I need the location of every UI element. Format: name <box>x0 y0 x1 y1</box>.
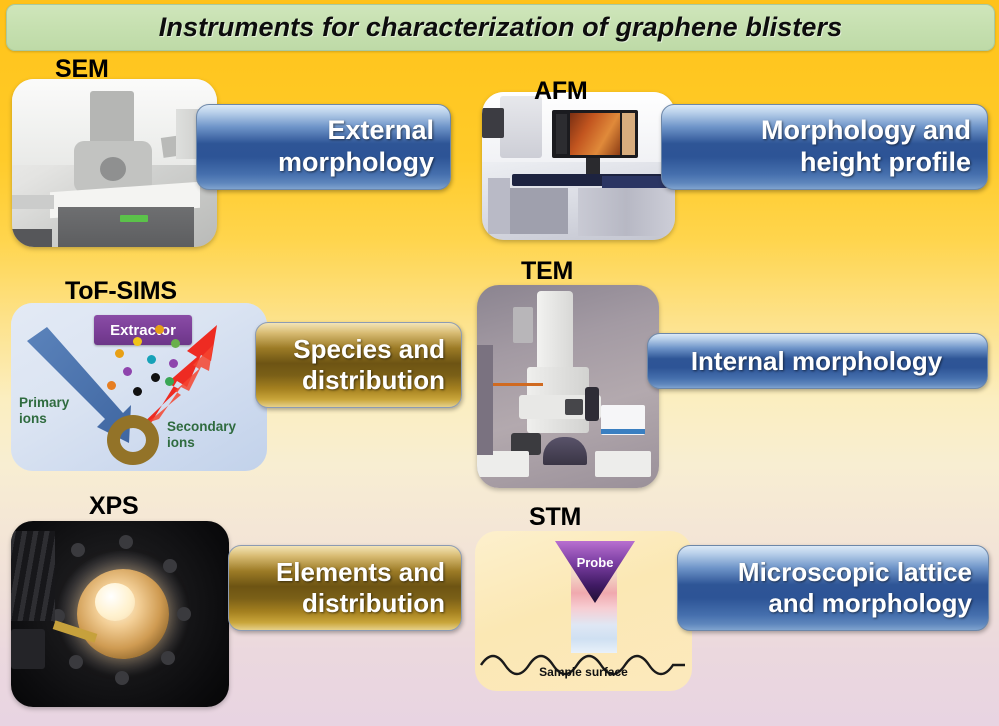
caption-pill-afm: Morphology and height profile <box>661 104 988 190</box>
instrument-label-stm: STM <box>529 503 581 532</box>
figure-root: Instruments for characterization of grap… <box>0 0 999 726</box>
caption-text-stm: Microscopic lattice and morphology <box>678 557 988 618</box>
sample-ring-icon <box>107 415 159 465</box>
caption-text-tem: Internal morphology <box>648 346 987 377</box>
instrument-label-tof-sims: ToF-SIMS <box>65 277 177 306</box>
instrument-label-xps: XPS <box>89 492 138 521</box>
particle-dot <box>133 337 142 346</box>
caption-text-sem: External morphology <box>197 115 450 179</box>
particle-dot <box>115 349 124 358</box>
particle-dot <box>123 367 132 376</box>
sample-surface-label: Sample surface <box>475 665 692 679</box>
secondary-ions-label: Secondary ions <box>167 419 236 452</box>
caption-pill-sem: External morphology <box>196 104 451 190</box>
instrument-photo-xps <box>11 521 229 707</box>
instrument-photo-afm <box>482 92 675 240</box>
instrument-label-afm: AFM <box>534 77 588 106</box>
caption-pill-tof-sims: Species and distribution <box>255 322 462 408</box>
instrument-label-sem: SEM <box>55 55 109 84</box>
particle-dot <box>151 373 160 382</box>
particle-dot <box>171 339 180 348</box>
particle-dot <box>107 381 116 390</box>
figure-title-bar: Instruments for characterization of grap… <box>6 4 995 51</box>
caption-text-tof-sims: Species and distribution <box>256 334 461 395</box>
page-title: Instruments for characterization of grap… <box>159 12 842 43</box>
instrument-photo-tem <box>477 285 659 488</box>
particle-dot <box>155 325 164 334</box>
caption-pill-tem: Internal morphology <box>647 333 988 389</box>
probe-label: Probe <box>555 555 635 570</box>
particle-dot <box>165 377 174 386</box>
probe-tip-icon <box>555 541 635 603</box>
caption-pill-stm: Microscopic lattice and morphology <box>677 545 989 631</box>
particle-dot <box>133 387 142 396</box>
caption-text-xps: Elements and distribution <box>229 557 461 618</box>
particle-dot <box>147 355 156 364</box>
primary-ions-label: Primary ions <box>19 395 69 428</box>
caption-text-afm: Morphology and height profile <box>662 115 987 179</box>
instrument-photo-sem <box>12 79 217 247</box>
instrument-diagram-stm: Probe Sample surface <box>475 531 692 691</box>
particle-dot <box>169 359 178 368</box>
caption-pill-xps: Elements and distribution <box>228 545 462 631</box>
instrument-label-tem: TEM <box>521 257 573 286</box>
instrument-diagram-tof-sims: Extractor <box>11 303 267 471</box>
